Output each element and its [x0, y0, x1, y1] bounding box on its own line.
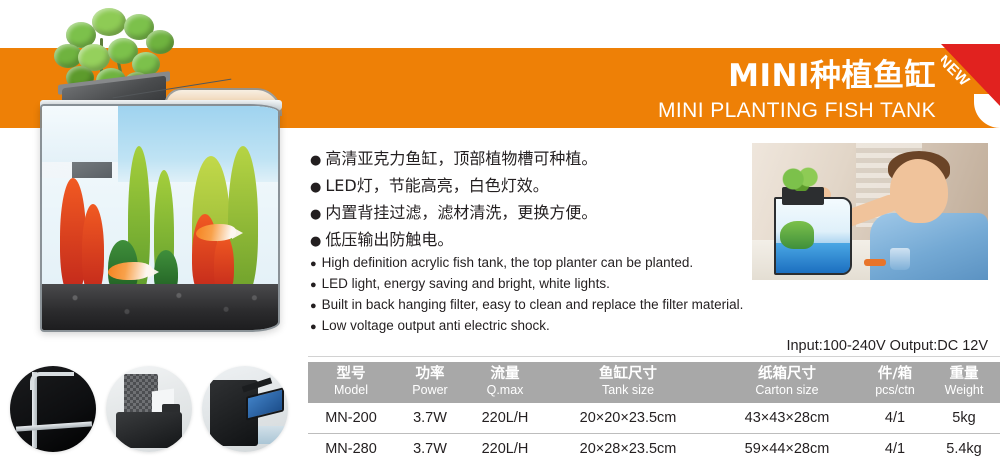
specification-table: 型号 Model 功率 Power 流量 Q.max 鱼缸尺寸 Tank siz… — [308, 362, 1000, 464]
cell-pcs-ctn: 4/1 — [862, 434, 928, 464]
power-spec-text: Input:100-240V Output:DC 12V — [786, 338, 988, 354]
feature-item-en: ●LED light, energy saving and bright, wh… — [310, 274, 740, 295]
cell-qmax: 220L/H — [466, 434, 544, 464]
feature-list-chinese: ●高清亚克力鱼缸，顶部植物槽可种植。 ●LED灯，节能高亮，白色灯效。 ●内置背… — [310, 146, 740, 254]
table-row: MN-280 3.7W 220L/H 20×28×23.5cm 59×44×28… — [308, 434, 1000, 464]
cell-tank-size: 20×20×23.5cm — [544, 403, 712, 434]
detail-thumbnail-acrylic-corner — [10, 366, 96, 452]
detail-thumbnail-led-light — [202, 366, 288, 452]
feature-item-en: ●Built in back hanging filter, easy to c… — [310, 295, 740, 316]
lifestyle-tank-top-plant — [780, 167, 824, 191]
column-header-carton-size: 纸箱尺寸 Carton size — [712, 362, 862, 403]
column-header-qmax: 流量 Q.max — [466, 362, 544, 403]
bullet-dot-icon: ● — [310, 153, 321, 168]
feature-text-en: Built in back hanging filter, easy to cl… — [322, 297, 744, 312]
bullet-dot-icon: ● — [310, 180, 321, 195]
bullet-dot-icon: ● — [310, 234, 321, 249]
acrylic-edge-horizontal — [16, 421, 92, 431]
table-header-row: 型号 Model 功率 Power 流量 Q.max 鱼缸尺寸 Tank siz… — [308, 362, 1000, 403]
feature-text-cn: LED灯，节能高亮，白色灯效。 — [325, 176, 548, 195]
feature-item-cn: ●LED灯，节能高亮，白色灯效。 — [310, 173, 740, 200]
lifestyle-image — [752, 143, 988, 280]
cell-pcs-ctn: 4/1 — [862, 403, 928, 434]
feature-text-cn: 低压输出防触电。 — [325, 230, 453, 249]
cell-power: 3.7W — [394, 434, 466, 464]
cell-tank-size: 20×28×23.5cm — [544, 434, 712, 464]
fish-food-pack — [864, 259, 886, 266]
hero-product-image — [16, 4, 308, 336]
acrylic-corner-seam — [30, 372, 74, 390]
bullet-dot-icon: ● — [310, 321, 317, 333]
cell-model: MN-200 — [308, 403, 394, 434]
tank-gravel — [42, 284, 278, 330]
feature-item-en: ●High definition acrylic fish tank, the … — [310, 253, 740, 274]
boy-shirt — [870, 213, 988, 280]
fish-orange-lower — [108, 262, 152, 280]
feature-text-cn: 内置背挂过滤，滤材清洗，更换方便。 — [325, 203, 597, 222]
page-title-chinese: MINI种植鱼缸 — [728, 58, 936, 94]
lifestyle-tank-plants — [780, 221, 814, 249]
column-header-tank-size: 鱼缸尺寸 Tank size — [544, 362, 712, 403]
lifestyle-fish-tank — [774, 197, 852, 275]
cell-qmax: 220L/H — [466, 403, 544, 434]
feature-text-cn: 高清亚克力鱼缸，顶部植物槽可种植。 — [325, 149, 597, 168]
tank-glass-body — [40, 104, 280, 332]
bullet-dot-icon: ● — [310, 258, 317, 270]
column-header-pcs-per-carton: 件/箱 pcs/ctn — [862, 362, 928, 403]
table-top-rule — [308, 356, 1000, 357]
column-header-weight: 重量 Weight — [928, 362, 1000, 403]
table-row: MN-200 3.7W 220L/H 20×20×23.5cm 43×43×28… — [308, 403, 1000, 434]
feature-item-en: ●Low voltage output anti electric shock. — [310, 316, 740, 337]
boy-face — [890, 159, 948, 223]
column-header-power: 功率 Power — [394, 362, 466, 403]
detail-thumbnail-filter-sponge — [106, 366, 192, 452]
feature-item-cn: ●高清亚克力鱼缸，顶部植物槽可种植。 — [310, 146, 740, 173]
cell-carton-size: 43×43×28cm — [712, 403, 862, 434]
feature-item-cn: ●内置背挂过滤，滤材清洗，更换方便。 — [310, 200, 740, 227]
feature-text-en: LED light, energy saving and bright, whi… — [322, 276, 610, 291]
page-title-english: MINI PLANTING FISH TANK — [658, 99, 936, 123]
cup-on-table — [890, 248, 910, 270]
cell-weight: 5.4kg — [928, 434, 1000, 464]
cell-carton-size: 59×44×28cm — [712, 434, 862, 464]
feature-text-en: Low voltage output anti electric shock. — [322, 318, 550, 333]
column-header-model: 型号 Model — [308, 362, 394, 403]
bullet-dot-icon: ● — [310, 300, 317, 312]
table-header: 型号 Model 功率 Power 流量 Q.max 鱼缸尺寸 Tank siz… — [308, 362, 1000, 403]
fish-orange-upper — [196, 224, 236, 241]
feature-text-en: High definition acrylic fish tank, the t… — [322, 255, 693, 270]
feature-item-cn: ●低压输出防触电。 — [310, 227, 740, 254]
new-ribbon: NEW — [941, 44, 1000, 106]
feature-list-english: ●High definition acrylic fish tank, the … — [310, 253, 740, 337]
table-body: MN-200 3.7W 220L/H 20×20×23.5cm 43×43×28… — [308, 403, 1000, 464]
cell-power: 3.7W — [394, 403, 466, 434]
cell-weight: 5kg — [928, 403, 1000, 434]
cell-model: MN-280 — [308, 434, 394, 464]
filter-housing — [116, 412, 182, 448]
bullet-dot-icon: ● — [310, 207, 321, 222]
bullet-dot-icon: ● — [310, 279, 317, 291]
